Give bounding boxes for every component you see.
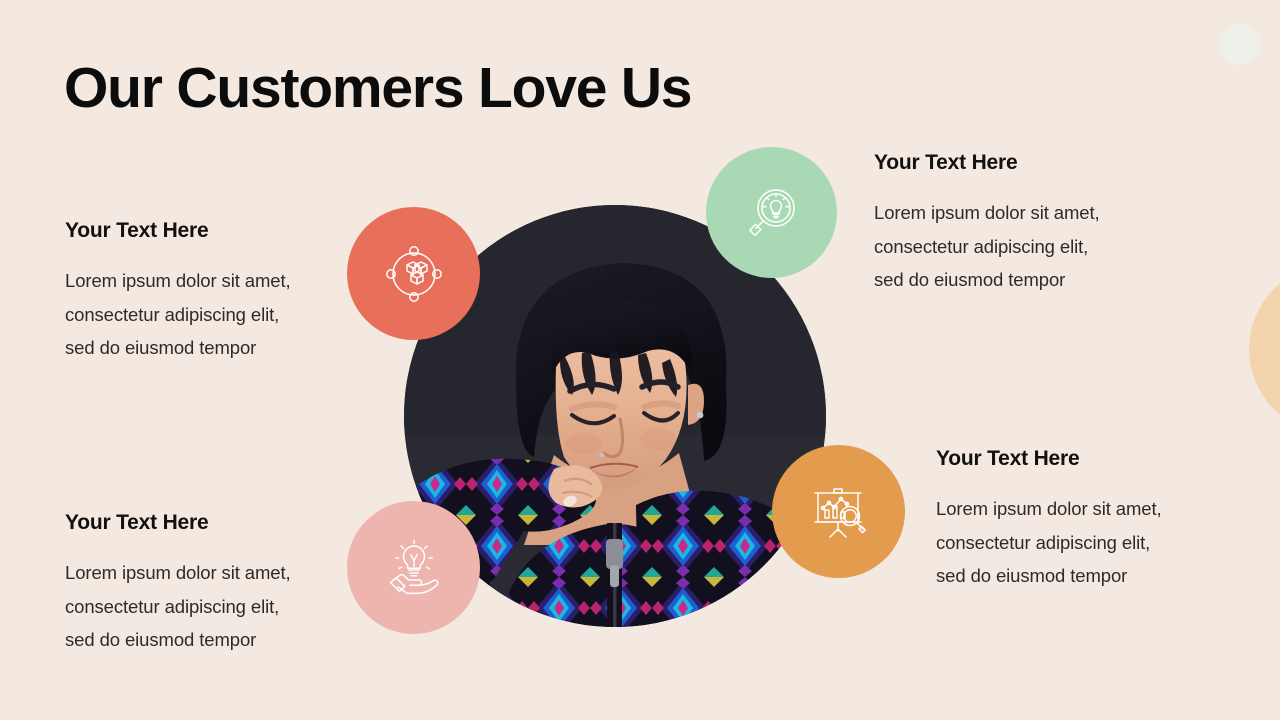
feature-body-line: sed do eiusmod tempor — [936, 559, 1236, 593]
feature-body-analytics: Lorem ipsum dolor sit amet, consectetur … — [936, 492, 1236, 593]
feature-heading-network: Your Text Here — [65, 219, 355, 243]
feature-body-idea: Lorem ipsum dolor sit amet, consectetur … — [65, 556, 355, 657]
feature-heading-idea: Your Text Here — [65, 511, 355, 535]
feature-icon-circle-analytics[interactable] — [772, 445, 905, 578]
feature-text-block-idea: Your Text Here Lorem ipsum dolor sit ame… — [65, 511, 355, 657]
decorative-green-dot — [1219, 24, 1260, 65]
feature-icon-circle-network[interactable] — [347, 207, 480, 340]
feature-text-block-analytics: Your Text Here Lorem ipsum dolor sit ame… — [936, 447, 1236, 593]
slide-canvas: Our Customers Love Us — [0, 0, 1280, 720]
feature-body-line: Lorem ipsum dolor sit amet, — [65, 556, 355, 590]
feature-body-line: sed do eiusmod tempor — [874, 263, 1174, 297]
feature-body-line: consectetur adipiscing elit, — [65, 590, 355, 624]
feature-body-line: Lorem ipsum dolor sit amet, — [65, 264, 355, 298]
feature-heading-analytics: Your Text Here — [936, 447, 1236, 471]
feature-icon-circle-idea[interactable] — [347, 501, 480, 634]
feature-body-line: Lorem ipsum dolor sit amet, — [874, 196, 1174, 230]
feature-heading-research: Your Text Here — [874, 151, 1174, 175]
presentation-chart-magnifier-icon — [807, 482, 871, 542]
decorative-tan-blob — [1249, 264, 1280, 434]
feature-body-line: sed do eiusmod tempor — [65, 331, 355, 365]
feature-text-block-research: Your Text Here Lorem ipsum dolor sit ame… — [874, 151, 1174, 297]
feature-body-network: Lorem ipsum dolor sit amet, consectetur … — [65, 264, 355, 365]
page-title: Our Customers Love Us — [64, 58, 691, 120]
feature-body-line: Lorem ipsum dolor sit amet, — [936, 492, 1236, 526]
feature-body-line: consectetur adipiscing elit, — [65, 298, 355, 332]
feature-icon-circle-research[interactable] — [706, 147, 837, 278]
network-cubes-icon — [383, 243, 445, 305]
feature-body-line: consectetur adipiscing elit, — [874, 230, 1174, 264]
feature-body-line: consectetur adipiscing elit, — [936, 526, 1236, 560]
feature-body-research: Lorem ipsum dolor sit amet, consectetur … — [874, 196, 1174, 297]
magnifier-lightbulb-icon — [742, 183, 802, 243]
feature-text-block-network: Your Text Here Lorem ipsum dolor sit ame… — [65, 219, 355, 365]
hand-lightbulb-icon — [382, 538, 446, 598]
feature-body-line: sed do eiusmod tempor — [65, 623, 355, 657]
